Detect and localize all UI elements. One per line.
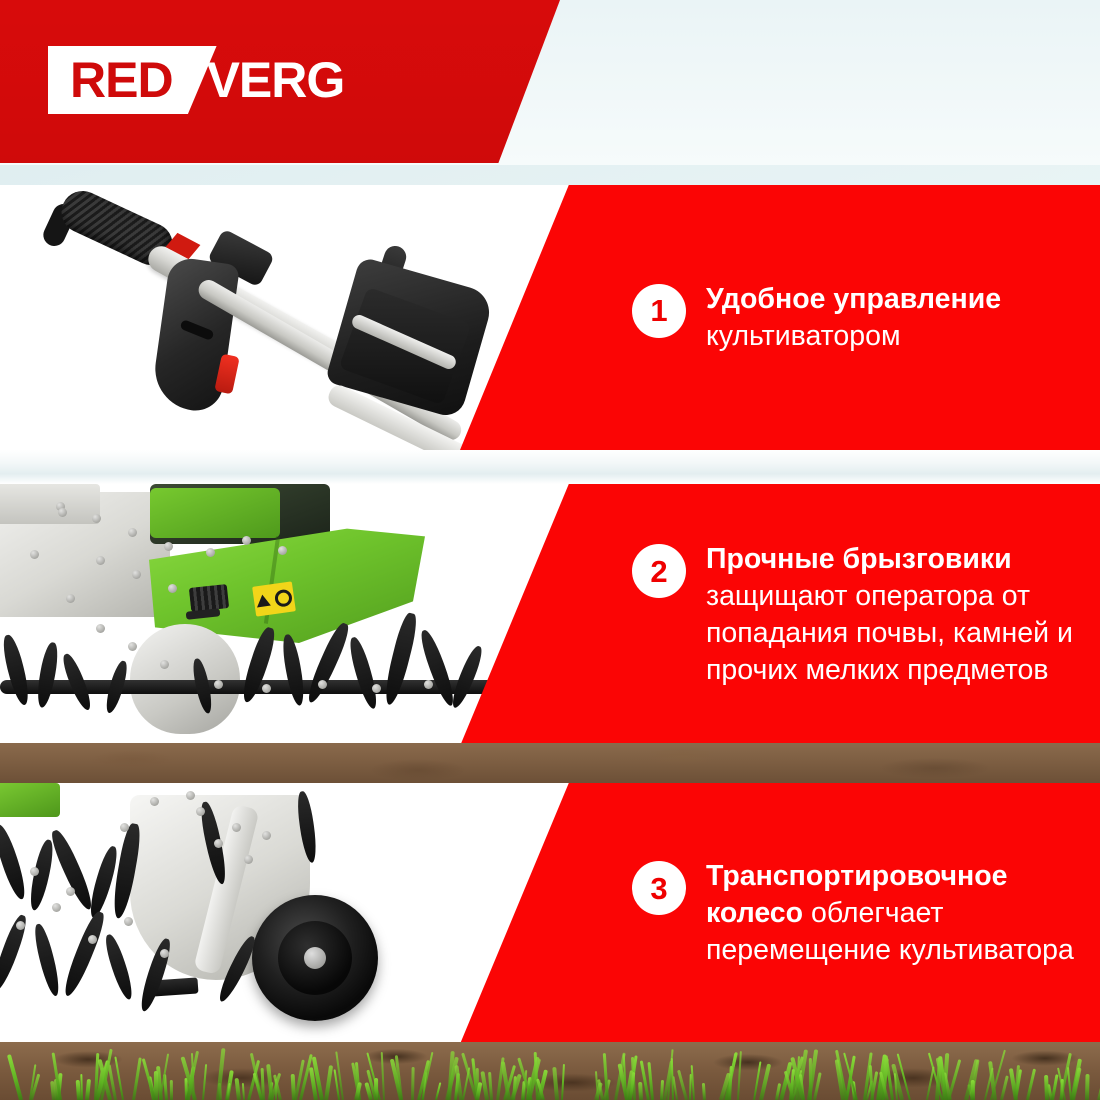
bolt	[52, 903, 61, 912]
bolt	[232, 823, 241, 832]
grass-blade	[671, 1058, 674, 1100]
redverg-logo: RED VERG	[48, 46, 344, 114]
header-band: RED VERG	[0, 0, 1100, 165]
grass-blade	[170, 1080, 173, 1100]
bottom-soil-grass-band	[0, 1042, 1100, 1100]
bolt	[66, 594, 75, 603]
feature-body-2: защищают оператора от попадания почвы, к…	[706, 580, 1073, 686]
row-divider-1	[0, 450, 1100, 484]
grass-blade	[261, 1068, 266, 1100]
grass-blade	[216, 1048, 226, 1100]
grass-blade	[85, 1079, 91, 1100]
feature-row-1: 1 Удобное управление культиватором	[0, 185, 1100, 450]
bolt	[128, 528, 137, 537]
grass-blade	[926, 1067, 935, 1100]
warning-triangle-icon	[256, 594, 272, 608]
feature-content-2: 2 Прочные брызговики защищают оператора …	[460, 484, 1100, 746]
grass-blade	[324, 1065, 333, 1100]
feature-row-2: 2 Прочные брызговики защищают оператора …	[0, 484, 1100, 746]
bolt	[124, 917, 133, 926]
tine	[0, 633, 32, 707]
bolt	[150, 797, 159, 806]
bolt	[206, 548, 215, 557]
feature-content-3: 3 Транспортировочное колесо облегчает пе…	[460, 783, 1100, 1044]
logo-text-red: RED	[70, 55, 173, 105]
green-top-panel	[150, 488, 280, 538]
bolt	[96, 556, 105, 565]
gearbox-housing	[130, 624, 240, 734]
feature-text-1: Удобное управление культиватором	[706, 281, 1076, 355]
grass-blade	[115, 1056, 125, 1100]
tine	[0, 822, 30, 901]
grass-blade	[488, 1072, 493, 1100]
tine	[47, 827, 97, 912]
grass-blade	[552, 1067, 559, 1100]
tine	[60, 909, 109, 998]
tine	[102, 933, 136, 1002]
bolt	[214, 680, 223, 689]
grass-blade	[411, 1067, 414, 1100]
grass-blade	[737, 1052, 742, 1100]
bolt	[128, 642, 137, 651]
mudguard-vent	[189, 584, 229, 612]
tine	[417, 628, 458, 708]
bolt	[278, 546, 287, 555]
bolt	[318, 680, 327, 689]
grass-blade	[132, 1057, 141, 1100]
grass-layer	[0, 1042, 1100, 1100]
grass-blade	[435, 1083, 441, 1100]
engine-cover	[0, 484, 100, 524]
grass-blade	[80, 1074, 83, 1100]
grass-blade	[691, 1065, 696, 1100]
tine	[34, 641, 60, 709]
bolt	[132, 570, 141, 579]
tine	[31, 922, 62, 997]
grass-blade	[1085, 1074, 1090, 1100]
bolt	[262, 684, 271, 693]
feature-title-1: Удобное управление	[706, 283, 1001, 315]
grass-blade	[638, 1082, 643, 1100]
bolt	[214, 839, 223, 848]
grass-blade	[1000, 1075, 1009, 1100]
tine	[346, 635, 381, 710]
bolt	[186, 791, 195, 800]
logo-text-verg: VERG	[207, 46, 345, 114]
feature-text-2: Прочные брызговики защищают оператора от…	[706, 541, 1076, 689]
soil-divider-band	[0, 743, 1100, 785]
bolt	[196, 807, 205, 816]
bolt	[92, 514, 101, 523]
wheel-hub-bolt	[304, 947, 326, 969]
grass-blade	[813, 1072, 822, 1100]
bolt	[168, 584, 177, 593]
grass-blade	[702, 1083, 706, 1100]
grass-blade	[677, 1070, 688, 1100]
feature-badge-2: 2	[632, 544, 686, 598]
tine	[280, 633, 307, 707]
feature-badge-1: 1	[632, 284, 686, 338]
feature-body-1: культиватором	[706, 320, 901, 352]
grass-blade	[381, 1052, 385, 1100]
bolt	[262, 831, 271, 840]
grass-blade	[202, 1064, 207, 1100]
grass-blade	[480, 1071, 488, 1100]
grass-blade	[971, 1080, 975, 1100]
grass-blade	[1051, 1074, 1058, 1100]
warning-circle-icon	[274, 588, 293, 607]
bolt	[66, 887, 75, 896]
bolt	[424, 680, 433, 689]
infographic-poster: RED VERG 1 Удобное управление	[0, 0, 1100, 1100]
grass-blade	[759, 1063, 771, 1100]
bolt	[160, 949, 169, 958]
bolt	[30, 550, 39, 559]
feature-badge-3: 3	[632, 861, 686, 915]
bolt	[16, 921, 25, 930]
grass-blade	[235, 1078, 241, 1100]
logo-red-box: RED	[48, 46, 217, 114]
warning-sticker	[252, 581, 296, 616]
bolt	[372, 684, 381, 693]
bolt	[58, 508, 67, 517]
bolt	[244, 855, 253, 864]
bolt	[88, 935, 97, 944]
feature-content-1: 1 Удобное управление культиватором	[460, 185, 1100, 450]
grass-blade	[242, 1083, 245, 1100]
bolt	[120, 823, 129, 832]
grass-blade	[7, 1054, 23, 1100]
bolt	[242, 536, 251, 545]
bolt	[30, 867, 39, 876]
feature-row-3: 3 Транспортировочное колесо облегчает пе…	[0, 783, 1100, 1044]
grass-blade	[1027, 1069, 1037, 1100]
grass-blade	[561, 1064, 565, 1100]
bolt	[164, 542, 173, 551]
grass-blade	[728, 1066, 733, 1100]
bolt	[160, 660, 169, 669]
transport-wheel	[252, 895, 378, 1021]
feature-title-2: Прочные брызговики	[706, 543, 1012, 575]
green-body-fragment	[0, 783, 60, 817]
bolt	[96, 624, 105, 633]
feature-text-3: Транспортировочное колесо облегчает пере…	[706, 858, 1076, 969]
